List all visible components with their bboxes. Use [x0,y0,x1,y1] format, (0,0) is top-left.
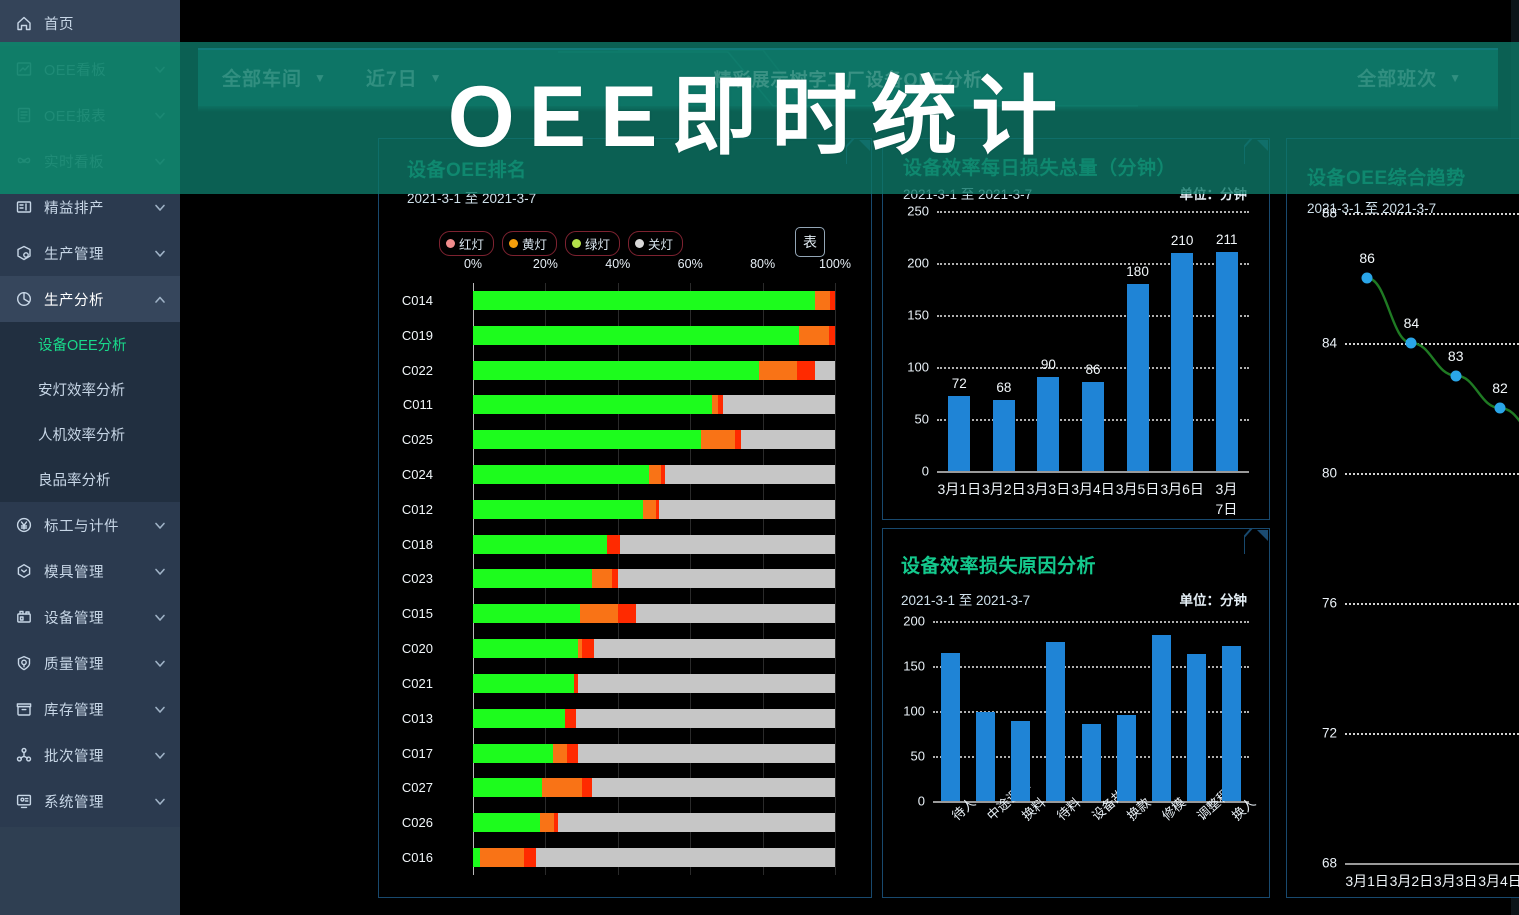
y-axis-tick: 200 [903,256,929,271]
legend-item-红灯[interactable]: 红灯 [439,231,494,256]
sidebar-item-label: 模具管理 [44,561,154,582]
sidebar-item-设备管理[interactable]: 设备管理 [0,594,180,640]
rank-bar-segment-红灯 [582,778,593,797]
rank-row[interactable]: C014 [439,283,835,318]
legend-label: 红灯 [459,234,484,253]
rank-axis-tick: 20% [533,257,558,271]
y-axis-tick: 200 [899,614,925,629]
rank-bar-segment-绿灯 [473,709,565,728]
legend-item-关灯[interactable]: 关灯 [628,231,683,256]
rank-stacked-bar [473,709,835,728]
rank-bar-segment-黄灯 [701,430,735,449]
gridline [937,263,1249,265]
bar[interactable] [1082,724,1101,801]
sidebar-item-库存管理[interactable]: 库存管理 [0,686,180,732]
chevron-down-icon [154,63,166,75]
schedule-icon [14,197,34,217]
rank-bar-segment-关灯 [578,674,835,693]
rank-row[interactable]: C015 [439,596,835,631]
chevron-up-icon [154,293,166,305]
rank-stacked-bar [473,326,835,345]
rank-bar-segment-红灯 [797,361,815,380]
rank-stacked-bar [473,569,835,588]
rank-bar-segment-绿灯 [473,465,649,484]
legend-label: 关灯 [648,234,673,253]
rank-row[interactable]: C024 [439,457,835,492]
sidebar-item-label: OEE看板 [44,59,154,80]
rank-bar-segment-绿灯 [473,500,643,519]
rank-bar-segment-黄灯 [643,500,656,519]
rank-panel-subtitle: 2021-3-1 至 2021-3-7 [407,187,536,207]
rank-stacked-bar [473,500,835,519]
home-icon [14,13,34,33]
rank-stacked-bar [473,674,835,693]
reason-panel-unit: 单位：分钟 [1180,589,1248,609]
x-axis-label: 3月6日 [1160,479,1204,499]
bar[interactable] [1037,377,1059,471]
yen-icon [14,515,34,535]
chevron-down-icon [154,247,166,259]
rank-bar-segment-关灯 [723,395,835,414]
rank-stacked-bar [473,744,835,763]
trend-point[interactable] [1406,338,1417,349]
sidebar-item-label: OEE报表 [44,105,154,126]
y-axis-tick: 100 [903,360,929,375]
shift-filter-label: 全部班次 [1357,64,1437,91]
x-axis-label: 3月3日 [1027,479,1071,499]
sidebar-item-label: 标工与计件 [44,515,154,536]
rank-bar-segment-绿灯 [473,778,542,797]
bar[interactable] [976,712,995,801]
x-axis-label: 3月7日 [1216,479,1238,519]
table-view-button[interactable]: 表 [795,227,825,257]
machine-icon [14,607,34,627]
rank-bar-segment-绿灯 [473,535,607,554]
rank-stacked-bar [473,778,835,797]
rank-row[interactable]: C025 [439,422,835,457]
bar[interactable] [1082,382,1104,471]
chevron-down-icon [154,109,166,121]
legend-dot [635,239,644,248]
dashboard-stage: 全部车间 ▼ 近7日 ▼ 精彩展示树字工厂设备OEE分析 全部班次 ▼ 设备OE… [180,0,1519,915]
rank-bar-segment-关灯 [636,604,835,623]
trend-plot-area: 687276808488863月1日843月2日833月3日823月4日813月… [1345,213,1519,863]
x-axis-label: 3月1日 [1345,871,1389,891]
legend-dot [509,239,518,248]
rank-bar-segment-绿灯 [473,674,574,693]
realtime-icon [14,151,34,171]
shield-check-icon [14,653,34,673]
sidebar-subitem-设备OEE分析[interactable]: 设备OEE分析 [0,322,180,367]
dashboard-topbar: 全部车间 ▼ 近7日 ▼ 精彩展示树字工厂设备OEE分析 全部班次 ▼ [198,48,1498,106]
rank-x-axis: 0%20%40%60%80%100% [439,257,835,277]
batch-icon [14,745,34,765]
chevron-down-icon [154,749,166,761]
rank-row[interactable]: C013 [439,701,835,736]
bar[interactable] [993,400,1015,471]
rank-bar-segment-关灯 [659,500,835,519]
panel-efficiency-loss-reason: 设备效率损失原因分析 2021-3-1 至 2021-3-7 单位：分钟 050… [882,528,1270,898]
sidebar-item-label: 实时看板 [44,151,154,172]
rank-bar-segment-关灯 [594,639,835,658]
bar[interactable] [1216,252,1238,471]
rank-bar-segment-绿灯 [473,639,578,658]
chevron-down-icon [154,519,166,531]
rank-bar-segment-关灯 [536,848,835,867]
bar[interactable] [941,653,960,801]
sidebar-item-OEE报表[interactable]: OEE报表 [0,92,180,138]
rank-row[interactable]: C020 [439,631,835,666]
rank-bar-segment-绿灯 [473,848,480,867]
bar-value-label: 68 [996,380,1011,395]
mold-icon [14,561,34,581]
panel-daily-efficiency-loss: 设备效率每日损失总量（分钟） 2021-3-1 至 2021-3-7 单位：分钟… [882,138,1270,520]
rank-stacked-bar [473,395,835,414]
sidebar-item-label: 批次管理 [44,745,154,766]
y-axis-tick: 80 [1309,466,1337,481]
trend-point[interactable] [1362,273,1373,284]
x-axis-label: 3月5日 [1116,479,1160,499]
chart-board-icon [14,59,34,79]
sidebar-item-label: 库存管理 [44,699,154,720]
rank-row-label: C025 [381,430,433,449]
rank-row-label: C014 [381,291,433,310]
rank-row-label: C017 [381,744,433,763]
rank-row[interactable]: C027 [439,771,835,806]
sidebar-item-label: 质量管理 [44,653,154,674]
rank-row-label: C016 [381,848,433,867]
rank-stacked-bar [473,604,835,623]
rank-bar-segment-关灯 [741,430,835,449]
legend-item-黄灯[interactable]: 黄灯 [502,231,557,256]
panel-corner-decoration [1244,528,1270,554]
daily-panel-subtitle: 2021-3-1 至 2021-3-7 [903,183,1032,203]
rank-bar-segment-红灯 [618,604,636,623]
daily-panel-unit: 单位：分钟 [1180,183,1248,203]
bar[interactable] [1152,635,1171,801]
rank-bar-segment-红灯 [830,291,835,310]
x-axis-label: 3月1日 [937,479,981,499]
sidebar-item-生产分析[interactable]: 生产分析 [0,276,180,322]
rank-bar-segment-黄灯 [480,848,523,867]
rank-bar-segment-黄灯 [542,778,582,797]
bar[interactable] [1187,654,1206,801]
bar[interactable] [1222,646,1241,801]
y-axis-tick: 50 [903,412,929,427]
sidebar-subitem-人机效率分析[interactable]: 人机效率分析 [0,412,180,457]
rank-stacked-bar [473,639,835,658]
sidebar-item-模具管理[interactable]: 模具管理 [0,548,180,594]
rank-axis-tick: 80% [750,257,775,271]
x-axis-label: 3月3日 [1434,871,1478,891]
sidebar-item-label: 设备管理 [44,607,154,628]
rank-bar-segment-关灯 [620,535,835,554]
page-title: 精彩展示树字工厂设备OEE分析 [198,66,1498,92]
rank-bar-segment-红灯 [567,744,578,763]
bar[interactable] [1046,642,1065,801]
sidebar-item-label: 首页 [44,13,166,34]
y-axis-tick: 88 [1309,206,1337,221]
y-axis-tick: 84 [1309,336,1337,351]
system-icon [14,791,34,811]
report-icon [14,105,34,125]
rank-bar-segment-绿灯 [473,569,592,588]
sidebar-item-首页[interactable]: 首页 [0,0,180,46]
rank-bar-segment-红灯 [565,709,576,728]
rank-row[interactable]: C017 [439,736,835,771]
trend-value-label: 84 [1404,315,1420,331]
chevron-down-icon [154,201,166,213]
rank-bar-segment-绿灯 [473,430,701,449]
sidebar-item-label: 生产管理 [44,243,154,264]
y-axis-tick: 72 [1309,726,1337,741]
rank-axis-tick: 60% [678,257,703,271]
reason-panel-subtitle: 2021-3-1 至 2021-3-7 [901,589,1030,609]
rank-row[interactable]: C018 [439,527,835,562]
rank-bar-segment-黄灯 [592,569,612,588]
rank-axis-tick: 40% [605,257,630,271]
rank-bar-segment-黄灯 [580,604,618,623]
bar-value-label: 90 [1041,357,1056,372]
chevron-down-icon [154,155,166,167]
bar[interactable] [1011,721,1030,801]
rank-row[interactable]: C012 [439,492,835,527]
legend-label: 黄灯 [522,234,547,253]
rank-row[interactable]: C026 [439,805,835,840]
sidebar-item-label: 精益排产 [44,197,154,218]
rank-row-label: C021 [381,674,433,693]
rank-bar-segment-红灯 [524,848,537,867]
rank-bar-segment-红灯 [607,535,620,554]
panel-corner-decoration [846,138,872,164]
trend-point[interactable] [1450,370,1461,381]
rank-row-label: C020 [381,639,433,658]
y-axis-tick: 100 [899,704,925,719]
y-axis-tick: 76 [1309,596,1337,611]
panel-equipment-oee-ranking: 设备OEE排名 2021-3-1 至 2021-3-7 红灯黄灯绿灯关灯 表 0… [378,138,872,898]
rank-bar-segment-关灯 [576,709,835,728]
rank-row-label: C011 [381,395,433,414]
sidebar-item-质量管理[interactable]: 质量管理 [0,640,180,686]
chevron-down-icon [154,657,166,669]
sidebar-subitem-安灯效率分析[interactable]: 安灯效率分析 [0,367,180,412]
rank-stacked-bar [473,535,835,554]
reason-panel-title: 设备效率损失原因分析 [901,551,1096,578]
x-axis-label: 3月2日 [982,479,1026,499]
reason-plot-area: 050100150200待人中途调模换料待料设备故障换款修模调整程序换人 [933,621,1249,801]
rank-row-label: C012 [381,500,433,519]
sidebar-item-OEE看板[interactable]: OEE看板 [0,46,180,92]
legend-label: 绿灯 [585,234,610,253]
rank-stacked-bar [473,465,835,484]
bar[interactable] [1117,715,1136,801]
rank-bar-segment-黄灯 [815,291,829,310]
y-axis-tick: 150 [899,659,925,674]
chevron-down-icon [154,565,166,577]
rank-row[interactable]: C011 [439,387,835,422]
bar-value-label: 210 [1171,233,1194,248]
sidebar-item-精益排产[interactable]: 精益排产 [0,184,180,230]
y-axis-tick: 50 [899,749,925,764]
daily-plot-area: 050100150200250723月1日683月2日903月3日863月4日1… [937,211,1249,471]
rank-bar-segment-黄灯 [649,465,662,484]
y-axis-tick: 250 [903,204,929,219]
bar-value-label: 86 [1085,362,1100,377]
rank-row-label: C013 [381,709,433,728]
rank-bar-segment-红灯 [582,639,595,658]
sidebar-item-系统管理[interactable]: 系统管理 [0,778,180,824]
rank-gridline [835,283,836,875]
sidebar-subitem-良品率分析[interactable]: 良品率分析 [0,457,180,502]
rank-bar-segment-关灯 [815,361,835,380]
box-icon [14,243,34,263]
pie-icon [14,289,34,309]
rank-legend[interactable]: 红灯黄灯绿灯关灯 [439,231,683,256]
chevron-down-icon [154,795,166,807]
gridline [933,621,1249,623]
legend-dot [446,239,455,248]
rank-row-label: C024 [381,465,433,484]
rank-bar-segment-绿灯 [473,326,799,345]
rank-bar-segment-关灯 [578,744,835,763]
gridline [937,315,1249,317]
panel-oee-overall-trend: 设备OEE综合趋势 2021-3-1 至 2021-3-7 单位：% 68727… [1286,138,1519,898]
chevron-down-icon: ▼ [1449,71,1462,85]
rank-panel-title: 设备OEE排名 [407,155,527,182]
y-axis-tick: 0 [899,794,925,809]
x-axis-label: 3月2日 [1390,871,1434,891]
rank-stacked-bar [473,848,835,867]
bar-value-label: 72 [952,376,967,391]
rank-axis-tick: 100% [819,257,851,271]
trend-line [1345,213,1519,863]
sidebar-footer [0,827,180,915]
bar-value-label: 211 [1216,232,1238,247]
rank-bar-segment-关灯 [592,778,835,797]
trend-value-label: 86 [1359,250,1375,266]
rank-row-label: C027 [381,778,433,797]
x-axis-line [1345,863,1519,865]
rank-row[interactable]: C016 [439,840,835,875]
rank-bar-segment-绿灯 [473,813,540,832]
rank-bar-segment-绿灯 [473,604,580,623]
y-axis-tick: 150 [903,308,929,323]
trend-value-label: 82 [1492,380,1508,396]
y-axis-tick: 0 [903,464,929,479]
shift-filter-dropdown[interactable]: 全部班次 ▼ [1357,64,1462,91]
bar-value-label: 180 [1126,264,1149,279]
rank-bar-segment-绿灯 [473,361,759,380]
sidebar-item-label: 生产分析 [44,289,154,310]
sidebar-item-标工与计件[interactable]: 标工与计件 [0,502,180,548]
legend-dot [572,239,581,248]
gridline [937,211,1249,213]
trend-panel-title: 设备OEE综合趋势 [1307,163,1466,190]
daily-panel-title: 设备效率每日损失总量（分钟） [903,153,1176,180]
sidebar-item-生产管理[interactable]: 生产管理 [0,230,180,276]
panel-corner-decoration [1244,138,1270,164]
rank-plot-area: C014C019C022C011C025C024C012C018C023C015… [439,283,835,875]
x-axis-label: 3月4日 [1071,479,1115,499]
bar[interactable] [1127,284,1149,471]
y-axis-tick: 68 [1309,856,1337,871]
rank-bar-segment-绿灯 [473,291,815,310]
rank-bar-segment-黄灯 [799,326,829,345]
chevron-down-icon [154,611,166,623]
rank-row-label: C026 [381,813,433,832]
rank-row[interactable]: C019 [439,318,835,353]
sidebar-item-实时看板[interactable]: 实时看板 [0,138,180,184]
inventory-icon [14,699,34,719]
rank-axis-tick: 0% [464,257,482,271]
sidebar-item-label: 系统管理 [44,791,154,812]
bar[interactable] [948,396,970,471]
chevron-down-icon [154,703,166,715]
x-axis-label: 3月4日 [1478,871,1519,891]
rank-row-label: C023 [381,569,433,588]
rank-bar-segment-绿灯 [473,395,712,414]
legend-item-绿灯[interactable]: 绿灯 [565,231,620,256]
rank-bar-segment-黄灯 [553,744,567,763]
rank-bar-segment-绿灯 [473,744,553,763]
rank-bar-segment-关灯 [665,465,835,484]
rank-bar-segment-关灯 [558,813,835,832]
rank-bar-segment-关灯 [618,569,835,588]
rank-stacked-bar [473,813,835,832]
x-axis-line [937,471,1249,473]
trend-point[interactable] [1495,403,1506,414]
sidebar: 首页OEE看板OEE报表实时看板精益排产生产管理生产分析 设备OEE分析安灯效率… [0,0,180,915]
rank-stacked-bar [473,291,835,310]
rank-row-label: C022 [381,361,433,380]
rank-bar-segment-黄灯 [759,361,797,380]
rank-row-label: C019 [381,326,433,345]
bar[interactable] [1171,253,1193,471]
rank-row[interactable]: C021 [439,666,835,701]
rank-bar-segment-红灯 [829,326,835,345]
rank-row-label: C018 [381,535,433,554]
sidebar-item-批次管理[interactable]: 批次管理 [0,732,180,778]
rank-row[interactable]: C022 [439,353,835,388]
rank-row-label: C015 [381,604,433,623]
rank-row[interactable]: C023 [439,562,835,597]
rank-stacked-bar [473,430,835,449]
rank-stacked-bar [473,361,835,380]
rank-bar-segment-黄灯 [540,813,554,832]
trend-value-label: 83 [1448,348,1464,364]
